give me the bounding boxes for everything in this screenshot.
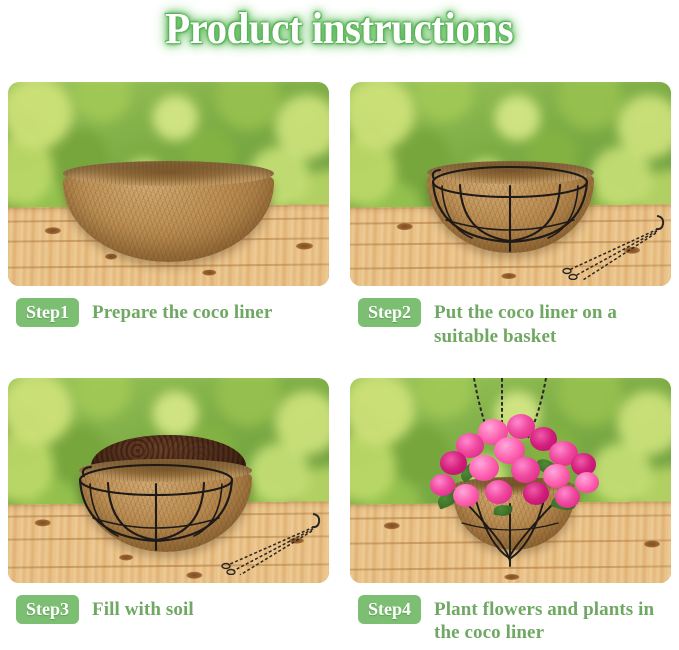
page-title-container: Product instructions [0, 6, 679, 52]
steps-row-2: Step3 Fill with soil [8, 378, 671, 646]
step-badge-3: Step3 [16, 595, 79, 624]
step-badge-2: Step2 [358, 298, 421, 327]
step-caption-1: Prepare the coco liner [92, 298, 272, 325]
step-4-photo [350, 378, 671, 583]
step-card-3: Step3 Fill with soil [8, 378, 329, 646]
step-3-photo [8, 378, 329, 583]
coco-liner-rim [427, 161, 594, 184]
hanging-chain-icon [220, 509, 325, 575]
coco-liner-rim [79, 459, 252, 482]
step-caption-3: Fill with soil [92, 595, 194, 622]
step-card-1: Step1 Prepare the coco liner [8, 82, 329, 349]
step-2-photo [350, 82, 671, 286]
coco-liner-rim [63, 161, 275, 186]
step-1-caption-row: Step1 Prepare the coco liner [8, 298, 329, 327]
page-title: Product instructions [165, 6, 513, 52]
step-badge-4: Step4 [358, 595, 421, 624]
step-2-caption-row: Step2 Put the coco liner on a suitable b… [350, 298, 671, 349]
pink-flowers [350, 378, 671, 583]
step-caption-2: Put the coco liner on a suitable basket [434, 298, 671, 349]
steps-grid: Step1 Prepare the coco liner [8, 82, 671, 645]
step-badge-1: Step1 [16, 298, 79, 327]
step-3-caption-row: Step3 Fill with soil [8, 595, 329, 624]
step-1-photo [8, 82, 329, 286]
step-caption-4: Plant flowers and plants in the coco lin… [434, 595, 671, 646]
step-card-2: Step2 Put the coco liner on a suitable b… [350, 82, 671, 349]
product-instructions-infographic: Product instructions [0, 0, 679, 650]
hanging-chain-icon [561, 210, 669, 280]
steps-row-1: Step1 Prepare the coco liner [8, 82, 671, 349]
step-4-caption-row: Step4 Plant flowers and plants in the co… [350, 595, 671, 646]
step-card-4: Step4 Plant flowers and plants in the co… [350, 378, 671, 646]
